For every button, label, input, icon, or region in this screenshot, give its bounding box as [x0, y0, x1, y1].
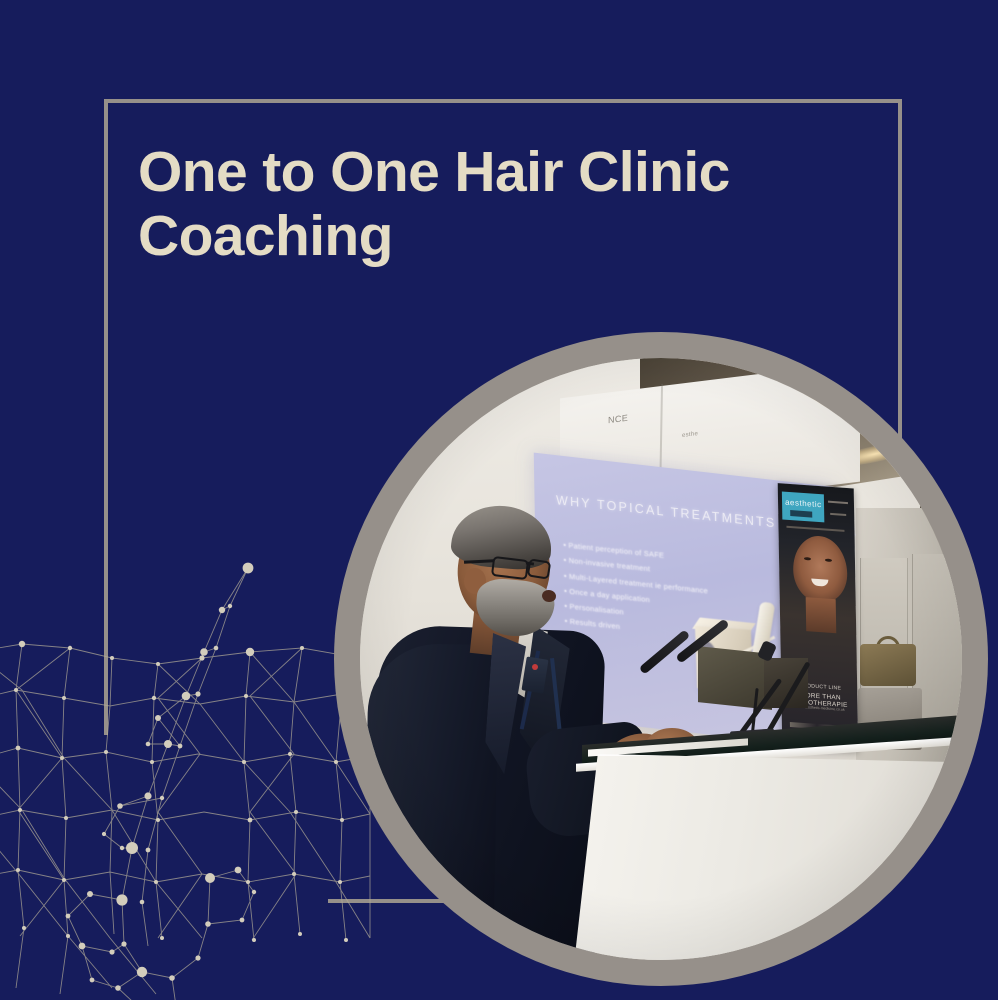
glasses-lens-right: [527, 558, 552, 579]
poster-rule-3: [786, 526, 844, 532]
hair-follicle-network-graphic: [0, 548, 372, 1000]
speaker-badge-dot: [532, 664, 538, 670]
podium-front-panel: [574, 754, 962, 960]
glasses-lens-left: [491, 556, 529, 580]
photo-ring: NCE esthe WHY TOPICAL TREATMENTS ARE POP…: [334, 332, 988, 986]
speaker-shoulder: [363, 643, 499, 960]
poster-rule-1: [828, 501, 848, 504]
poster-rule-2: [830, 513, 846, 516]
exhibition-poster: aesthetic PRODUCT LINE MORE THAN MESOTHE…: [778, 483, 859, 751]
poster-model-neck: [806, 597, 837, 633]
poster-model-face: [793, 534, 848, 604]
bag: [860, 644, 916, 686]
frame-top-line: [104, 99, 902, 103]
page-title: One to One Hair Clinic Coaching: [138, 140, 838, 269]
speaker-photo: NCE esthe WHY TOPICAL TREATMENTS ARE POP…: [360, 358, 962, 960]
poster-model-eye-left: [804, 557, 811, 560]
slide-canvas: One to One Hair Clinic Coaching: [0, 0, 998, 1000]
poster-model-eye-right: [825, 558, 832, 561]
